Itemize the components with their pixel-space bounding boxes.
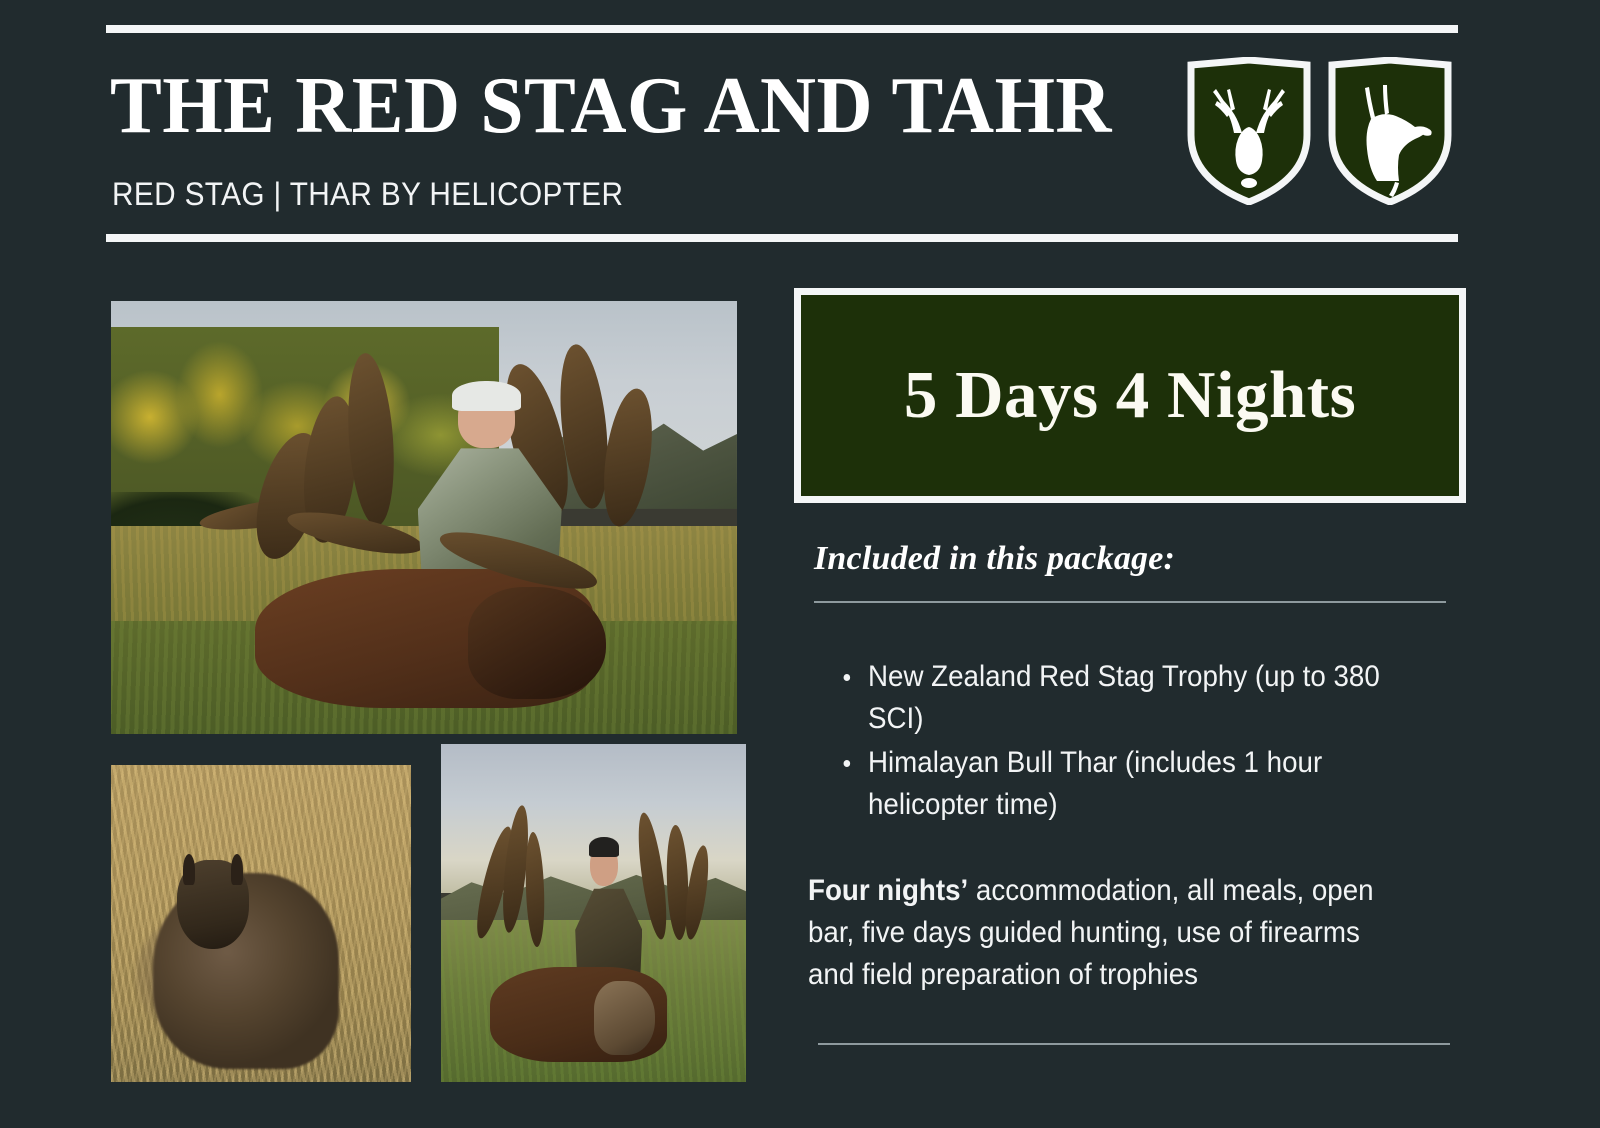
stag-head	[468, 587, 606, 700]
poster-page: THE RED STAG AND TAHR RED STAG | THAR BY…	[0, 0, 1600, 1128]
header-top-rule	[106, 25, 1458, 33]
included-divider-top	[814, 601, 1446, 603]
list-item: New Zealand Red Stag Trophy (up to 380 S…	[868, 656, 1432, 740]
header-bottom-rule	[106, 234, 1458, 242]
package-details-paragraph: Four nights’ accommodation, all meals, o…	[808, 870, 1383, 996]
hunter-cap	[452, 381, 521, 411]
stag-head-shield-icon	[1186, 57, 1312, 205]
duration-badge-label: 5 Days 4 Nights	[904, 357, 1356, 434]
logo-group	[1186, 57, 1458, 205]
hunter-beanie	[589, 837, 620, 857]
included-heading: Included in this package:	[814, 540, 1175, 578]
page-subtitle: RED STAG | THAR BY HELICOPTER	[112, 176, 623, 213]
tahr-horn-right	[231, 854, 243, 886]
duration-badge: 5 Days 4 Nights	[794, 288, 1466, 503]
list-item: Himalayan Bull Thar (includes 1 hour hel…	[868, 742, 1432, 826]
footer-divider	[818, 1043, 1450, 1045]
stag-head	[594, 981, 655, 1055]
tahr-horn-left	[183, 854, 195, 886]
second-stag-photo	[441, 744, 746, 1082]
included-list: New Zealand Red Stag Trophy (up to 380 S…	[822, 656, 1468, 828]
tahr-head-shield-icon	[1327, 57, 1453, 205]
package-details-lead: Four nights’	[808, 874, 968, 907]
tahr-photo	[111, 765, 411, 1082]
page-title: THE RED STAG AND TAHR	[110, 66, 1112, 146]
main-stag-photo	[111, 301, 737, 734]
